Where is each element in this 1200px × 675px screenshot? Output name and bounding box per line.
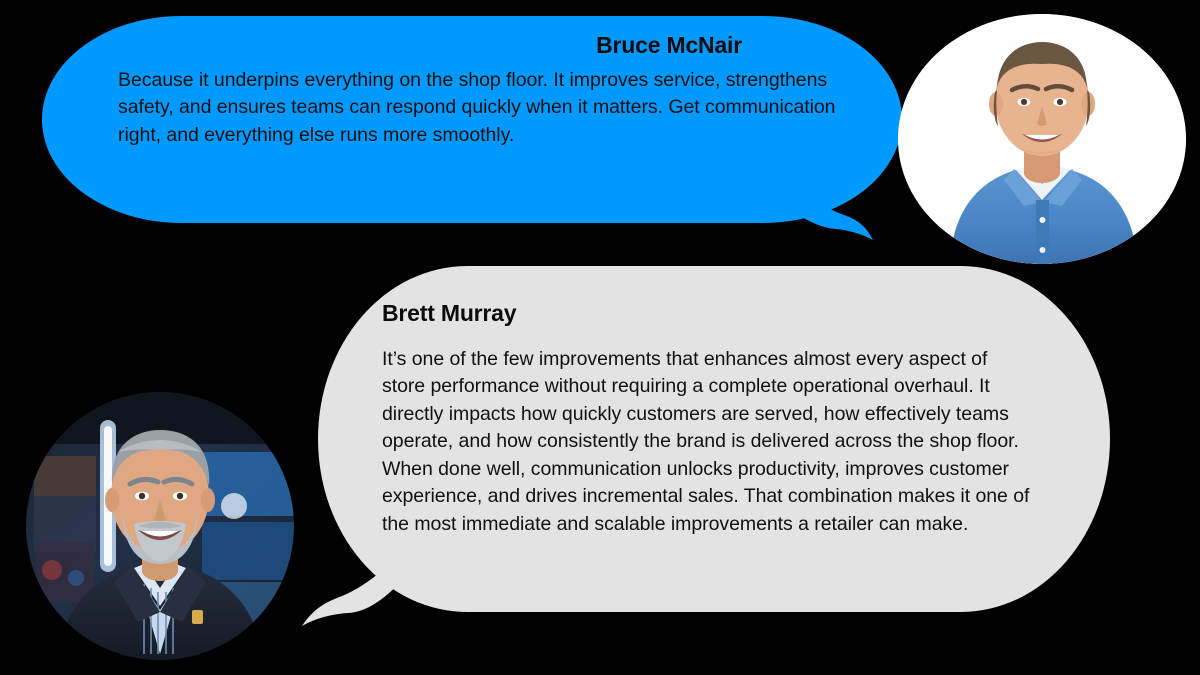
speech-bubble-brett: Brett Murray It’s one of the few improve… [318,266,1110,612]
quote-text-bruce: Because it underpins everything on the s… [118,60,846,150]
quote-paragraph: It’s one of the few improvements that en… [382,346,1034,456]
avatar-bruce [898,14,1186,264]
avatar-bruce-illustration [898,14,1186,264]
speech-bubble-bruce: Bruce McNair Because it underpins everyt… [42,16,902,223]
quote-bubbles-canvas: Bruce McNair Because it underpins everyt… [0,0,1200,675]
speaker-name-brett: Brett Murray [366,300,1034,332]
quote-text-brett: It’s one of the few improvements that en… [366,332,1034,539]
avatar-brett-illustration [26,392,294,660]
avatar-brett [26,392,294,660]
quote-paragraph: When done well, communication unlocks pr… [382,456,1034,539]
quote-paragraph: Because it underpins everything on the s… [118,67,846,150]
speaker-name-bruce: Bruce McNair [118,32,846,60]
